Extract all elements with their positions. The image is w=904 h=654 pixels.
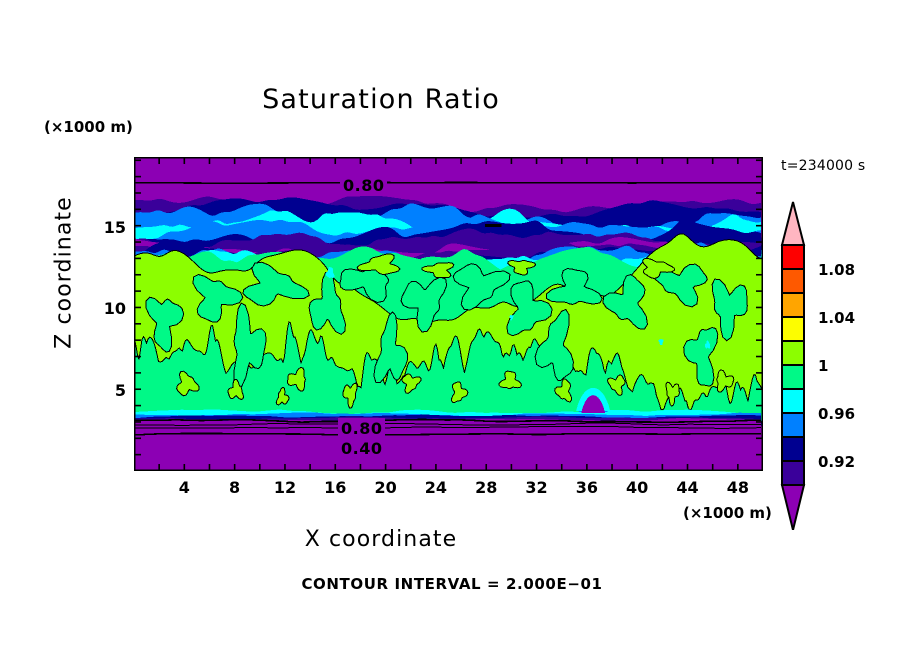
colorbar-swatch[interactable] — [782, 461, 804, 485]
colorbar-swatch[interactable] — [782, 413, 804, 437]
x-axis-tick-label: 32 — [517, 478, 557, 497]
x-axis-unit-label: (×1000 m) — [683, 506, 772, 521]
x-axis-tick-label: 48 — [718, 478, 758, 497]
contour-value-label: 0.80 — [340, 175, 387, 196]
x-axis-title: X coordinate — [0, 529, 762, 551]
colorbar-swatch[interactable] — [782, 293, 804, 317]
contour-line-0.80-upper — [134, 183, 761, 184]
x-axis-tick-label: 24 — [416, 478, 456, 497]
colorbar-tick-label: 1 — [818, 357, 828, 375]
colorbar-tick-label: 0.96 — [818, 405, 855, 423]
colorbar-swatch[interactable] — [782, 437, 804, 461]
y-axis-tick-label: 5 — [92, 381, 126, 400]
contour-plot-field[interactable] — [134, 157, 763, 471]
colorbar-top-arrow — [782, 202, 804, 245]
contour-value-label: 0.80 — [338, 418, 385, 439]
colorbar-tick-label: 1.04 — [818, 309, 855, 327]
cloud-base-band — [134, 418, 763, 471]
contour-interval-note: CONTOUR INTERVAL = 2.000E−01 — [0, 577, 904, 592]
x-axis-tick-label: 36 — [567, 478, 607, 497]
x-axis-tick-label: 28 — [466, 478, 506, 497]
x-axis-tick-label: 12 — [265, 478, 305, 497]
y-axis-unit-label: (×1000 m) — [44, 120, 133, 135]
x-axis-tick-label: 8 — [215, 478, 255, 497]
colorbar-swatch[interactable] — [782, 389, 804, 413]
y-axis-title: Z coordinate — [52, 173, 77, 373]
colorbar-tick-label: 0.92 — [818, 453, 855, 471]
time-stamp-label: t=234000 s — [781, 159, 865, 173]
colorbar-swatch[interactable] — [782, 245, 804, 269]
colorbar-swatch[interactable] — [782, 341, 804, 365]
colorbar-swatch[interactable] — [782, 365, 804, 389]
colorbar-bottom-arrow — [782, 485, 804, 530]
x-axis-tick-label: 44 — [668, 478, 708, 497]
colorbar-tick-label: 1.08 — [818, 261, 855, 279]
colorbar-swatch[interactable] — [782, 317, 804, 341]
x-axis-tick-label: 16 — [315, 478, 355, 497]
x-axis-tick-label: 20 — [366, 478, 406, 497]
colorbar-swatch[interactable] — [782, 269, 804, 293]
page-title: Saturation Ratio — [0, 86, 762, 113]
contour-value-label: 0.40 — [338, 438, 385, 459]
x-axis-tick-label: 4 — [164, 478, 204, 497]
y-axis-tick-label: 10 — [92, 299, 126, 318]
x-axis-tick-label: 40 — [617, 478, 657, 497]
y-axis-tick-label: 15 — [92, 218, 126, 237]
